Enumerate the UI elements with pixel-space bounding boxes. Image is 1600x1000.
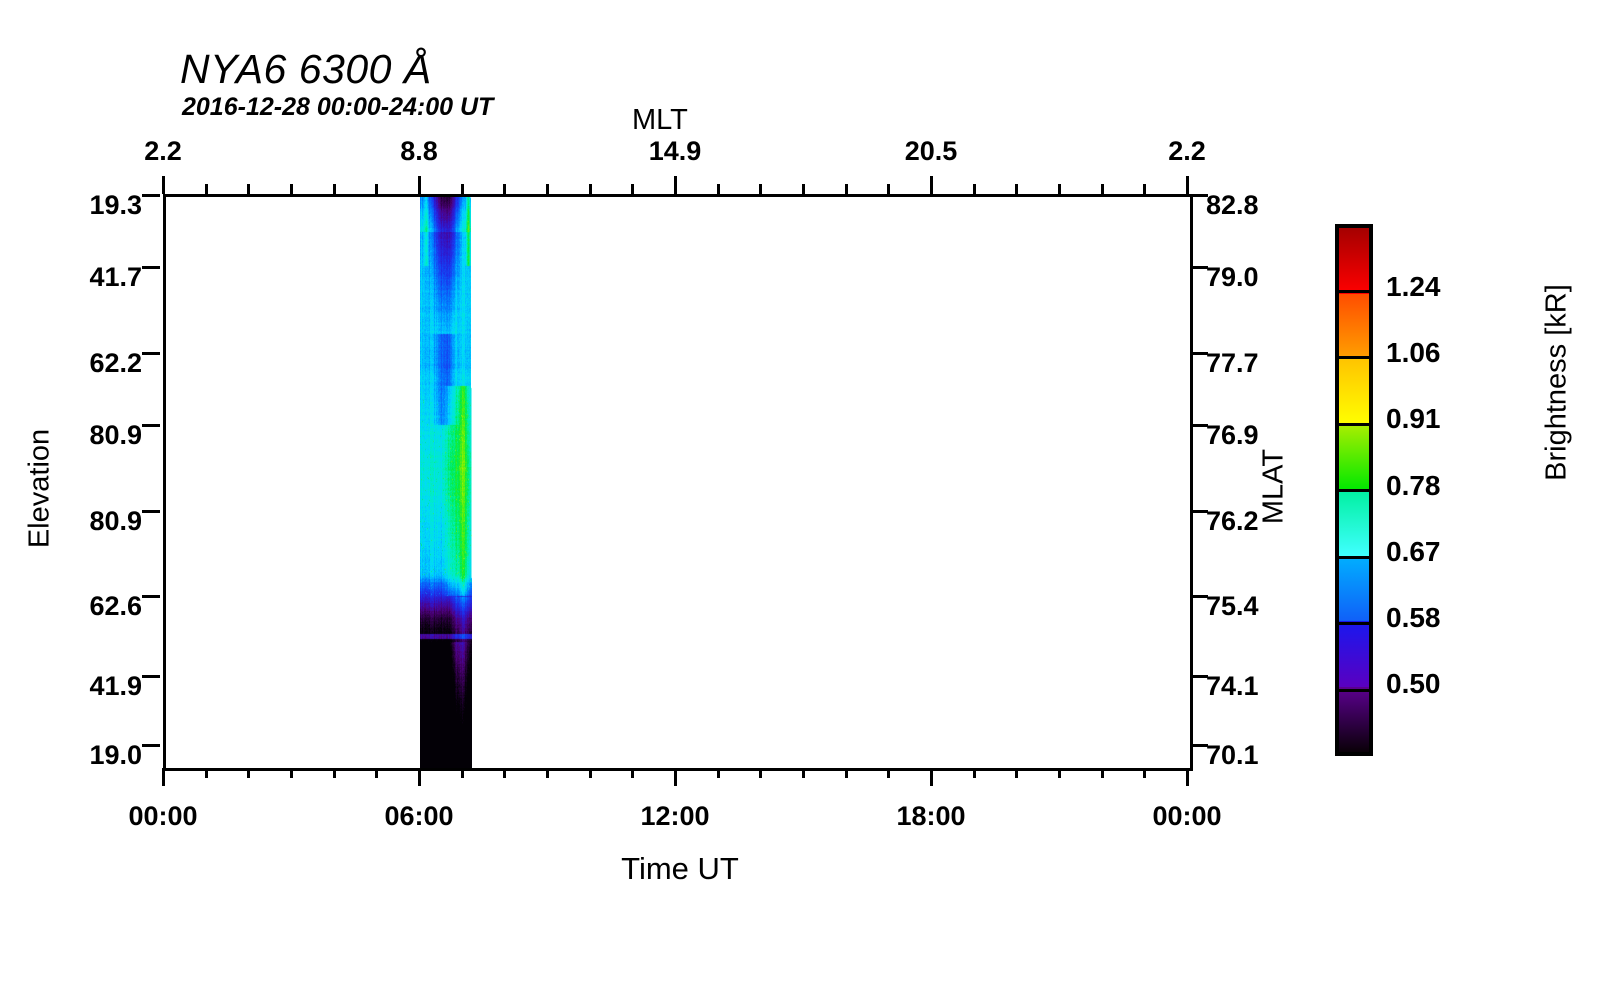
time-tick-label-4: 00:00 (1127, 801, 1247, 832)
colorbar-tick-label-6: 0.50 (1386, 668, 1441, 700)
xtick-bottom-17 (887, 768, 890, 778)
colorbar-segment-7 (1339, 687, 1369, 753)
mlat-tick-label-0: 82.8 (1206, 190, 1259, 221)
colorbar-separator-6 (1335, 622, 1373, 625)
mlat-tick-label-3: 76.9 (1206, 420, 1259, 451)
colorbar-separator-3 (1335, 423, 1373, 426)
top-axis-label-mlt: MLT (632, 104, 688, 137)
ytick-left-4 (142, 510, 160, 513)
mlt-tick-label-1: 8.8 (359, 136, 479, 167)
colorbar-segment-2 (1339, 359, 1369, 425)
xtick-bottom-24 (1186, 768, 1189, 786)
colorbar-title: Brightness [kR] (1541, 258, 1574, 508)
colorbar-tick-label-3: 0.78 (1386, 470, 1441, 502)
figure-subtitle: 2016-12-28 00:00-24:00 UT (182, 93, 493, 122)
colorbar-segment-5 (1339, 556, 1369, 622)
mlt-tick-label-0: 2.2 (103, 136, 223, 167)
xtick-bottom-12 (674, 768, 677, 786)
colorbar-separator-2 (1335, 356, 1373, 359)
xtick-top-2 (247, 184, 250, 194)
xtick-bottom-10 (589, 768, 592, 778)
xtick-top-1 (205, 184, 208, 194)
xtick-top-10 (589, 184, 592, 194)
xtick-top-23 (1143, 184, 1146, 194)
xtick-bottom-20 (1015, 768, 1018, 778)
ytick-right-5 (1190, 595, 1208, 598)
time-tick-label-1: 06:00 (359, 801, 479, 832)
ytick-right-1 (1190, 266, 1208, 269)
ytick-right-2 (1190, 352, 1208, 355)
xtick-top-3 (290, 184, 293, 194)
mlat-tick-label-7: 70.1 (1206, 740, 1259, 771)
xtick-bottom-7 (461, 768, 464, 778)
xtick-bottom-11 (631, 768, 634, 778)
xtick-bottom-13 (717, 768, 720, 778)
keogram-data-canvas (166, 197, 1190, 768)
xtick-top-18 (930, 176, 933, 194)
colorbar-tick-label-1: 1.06 (1386, 337, 1441, 369)
xtick-top-13 (717, 184, 720, 194)
ytick-right-4 (1190, 510, 1208, 513)
xtick-bottom-14 (759, 768, 762, 778)
xtick-top-0 (162, 176, 165, 194)
elevation-tick-label-2: 62.2 (10, 348, 142, 379)
keogram-figure: NYA6 6300 Å 2016-12-28 00:00-24:00 UT ML… (0, 0, 1600, 1000)
xtick-top-15 (802, 184, 805, 194)
xtick-top-16 (845, 184, 848, 194)
mlat-tick-label-4: 76.2 (1206, 506, 1259, 537)
colorbar-segment-1 (1339, 294, 1369, 360)
time-tick-label-2: 12:00 (615, 801, 735, 832)
xtick-bottom-21 (1058, 768, 1061, 778)
ytick-right-6 (1190, 675, 1208, 678)
colorbar-segment-6 (1339, 621, 1369, 687)
xtick-top-9 (546, 184, 549, 194)
xtick-top-20 (1015, 184, 1018, 194)
ytick-left-2 (142, 352, 160, 355)
bottom-axis-label-time: Time UT (600, 851, 760, 887)
time-tick-label-3: 18:00 (871, 801, 991, 832)
xtick-bottom-9 (546, 768, 549, 778)
ytick-right-0 (1190, 194, 1208, 197)
elevation-tick-label-5: 62.6 (10, 591, 142, 622)
elevation-tick-label-3: 80.9 (10, 420, 142, 451)
elevation-tick-label-7: 19.0 (10, 740, 142, 771)
xtick-bottom-8 (503, 768, 506, 778)
xtick-top-4 (333, 184, 336, 194)
colorbar-separator-5 (1335, 556, 1373, 559)
xtick-bottom-5 (375, 768, 378, 778)
ytick-right-7 (1190, 744, 1208, 747)
xtick-bottom-15 (802, 768, 805, 778)
xtick-top-14 (759, 184, 762, 194)
mlat-tick-label-2: 77.7 (1206, 348, 1259, 379)
ytick-left-7 (142, 744, 160, 747)
xtick-top-6 (418, 176, 421, 194)
xtick-bottom-4 (333, 768, 336, 778)
colorbar-segment-3 (1339, 425, 1369, 491)
xtick-bottom-1 (205, 768, 208, 778)
xtick-bottom-23 (1143, 768, 1146, 778)
figure-title: NYA6 6300 Å (180, 46, 432, 93)
ytick-left-5 (142, 595, 160, 598)
xtick-bottom-19 (973, 768, 976, 778)
xtick-bottom-3 (290, 768, 293, 778)
mlt-tick-label-3: 20.5 (871, 136, 991, 167)
mlat-tick-label-1: 79.0 (1206, 262, 1259, 293)
xtick-bottom-16 (845, 768, 848, 778)
xtick-top-17 (887, 184, 890, 194)
xtick-bottom-2 (247, 768, 250, 778)
time-tick-label-0: 00:00 (103, 801, 223, 832)
xtick-top-8 (503, 184, 506, 194)
xtick-top-7 (461, 184, 464, 194)
ytick-left-3 (142, 424, 160, 427)
mlt-tick-label-2: 14.9 (615, 136, 735, 167)
colorbar-tick-label-4: 0.67 (1386, 536, 1441, 568)
elevation-tick-label-1: 41.7 (10, 262, 142, 293)
colorbar-tick-label-5: 0.58 (1386, 602, 1441, 634)
elevation-tick-label-6: 41.9 (10, 671, 142, 702)
mlt-tick-label-4: 2.2 (1127, 136, 1247, 167)
xtick-top-12 (674, 176, 677, 194)
keogram-plot-area (163, 194, 1193, 771)
xtick-top-11 (631, 184, 634, 194)
colorbar-separator-1 (1335, 290, 1373, 293)
xtick-top-19 (973, 184, 976, 194)
xtick-bottom-0 (162, 768, 165, 786)
colorbar-separator-7 (1335, 689, 1373, 692)
colorbar-segment-4 (1339, 490, 1369, 556)
colorbar-segment-0 (1339, 228, 1369, 294)
xtick-bottom-6 (418, 768, 421, 786)
xtick-top-24 (1186, 176, 1189, 194)
xtick-top-5 (375, 184, 378, 194)
ytick-left-0 (142, 194, 160, 197)
colorbar-tick-label-0: 1.24 (1386, 271, 1441, 303)
colorbar-tick-label-2: 0.91 (1386, 403, 1441, 435)
xtick-bottom-18 (930, 768, 933, 786)
elevation-tick-label-4: 80.9 (10, 506, 142, 537)
mlat-tick-label-6: 74.1 (1206, 671, 1259, 702)
ytick-left-1 (142, 266, 160, 269)
right-axis-label-mlat: MLAT (1258, 427, 1291, 547)
ytick-right-3 (1190, 424, 1208, 427)
xtick-bottom-22 (1101, 768, 1104, 778)
ytick-left-6 (142, 675, 160, 678)
xtick-top-21 (1058, 184, 1061, 194)
xtick-top-22 (1101, 184, 1104, 194)
mlat-tick-label-5: 75.4 (1206, 591, 1259, 622)
colorbar-separator-4 (1335, 489, 1373, 492)
elevation-tick-label-0: 19.3 (10, 190, 142, 221)
keogram-image (420, 197, 522, 768)
